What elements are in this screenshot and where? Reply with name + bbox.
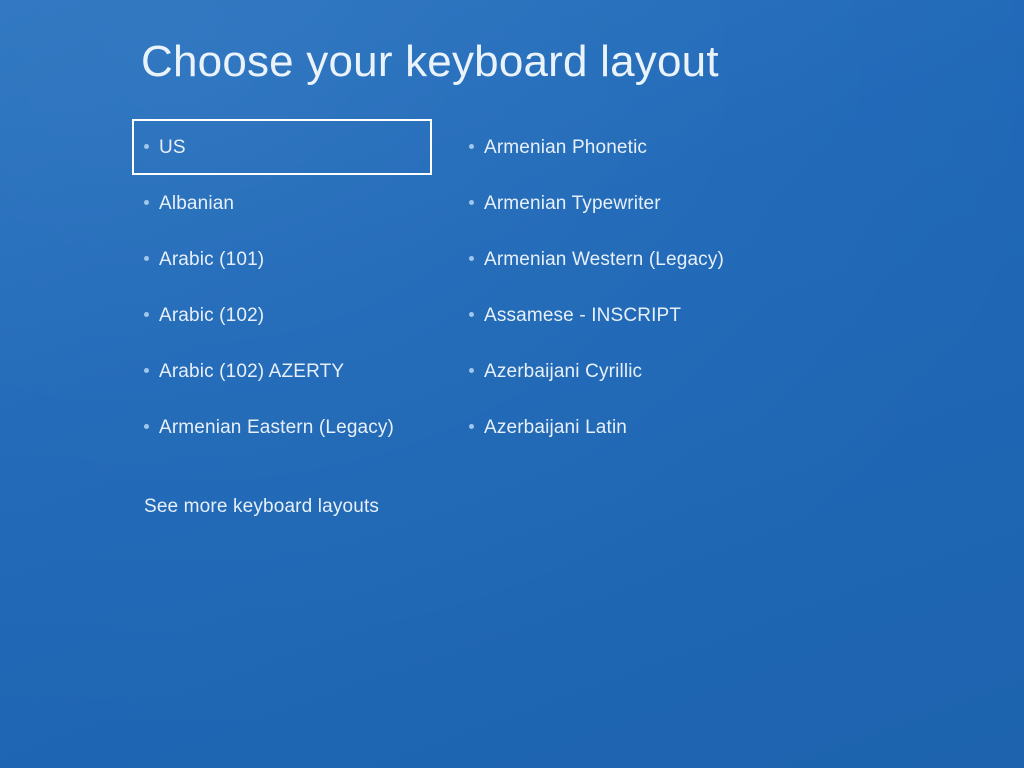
bullet-icon <box>469 200 474 205</box>
keyboard-layout-label: Armenian Phonetic <box>484 138 647 157</box>
keyboard-layout-item[interactable]: US <box>132 119 432 175</box>
bullet-icon <box>144 200 149 205</box>
keyboard-layout-item[interactable]: Arabic (102) AZERTY <box>132 343 432 399</box>
keyboard-layout-item[interactable]: Armenian Eastern (Legacy) <box>132 399 432 455</box>
keyboard-layout-item[interactable]: Azerbaijani Cyrillic <box>457 343 787 399</box>
page-title: Choose your keyboard layout <box>141 38 719 86</box>
keyboard-layout-label: Azerbaijani Cyrillic <box>484 362 642 381</box>
keyboard-layout-label: Armenian Typewriter <box>484 194 661 213</box>
keyboard-layout-label: Albanian <box>159 194 234 213</box>
bullet-icon <box>469 144 474 149</box>
keyboard-layout-item[interactable]: Arabic (101) <box>132 231 432 287</box>
bullet-icon <box>144 312 149 317</box>
keyboard-layout-column-right: Armenian PhoneticArmenian TypewriterArme… <box>457 119 787 455</box>
recovery-screen: Choose your keyboard layout USAlbanianAr… <box>0 0 1024 768</box>
keyboard-layout-item[interactable]: Assamese - INSCRIPT <box>457 287 787 343</box>
keyboard-layout-label: Arabic (101) <box>159 250 264 269</box>
bullet-icon <box>144 256 149 261</box>
keyboard-layout-item[interactable]: Albanian <box>132 175 432 231</box>
keyboard-layout-label: Armenian Western (Legacy) <box>484 250 724 269</box>
keyboard-layout-item[interactable]: Armenian Western (Legacy) <box>457 231 787 287</box>
keyboard-layout-label: Azerbaijani Latin <box>484 418 627 437</box>
keyboard-layout-label: Arabic (102) AZERTY <box>159 362 344 381</box>
keyboard-layout-label: Arabic (102) <box>159 306 264 325</box>
keyboard-layout-column-left: USAlbanianArabic (101)Arabic (102)Arabic… <box>132 119 432 455</box>
bullet-icon <box>469 368 474 373</box>
keyboard-layout-label: Assamese - INSCRIPT <box>484 306 681 325</box>
keyboard-layout-label: Armenian Eastern (Legacy) <box>159 418 394 437</box>
bullet-icon <box>144 424 149 429</box>
keyboard-layout-item[interactable]: Armenian Phonetic <box>457 119 787 175</box>
see-more-keyboard-layouts-link[interactable]: See more keyboard layouts <box>142 492 381 522</box>
bullet-icon <box>144 368 149 373</box>
keyboard-layout-item[interactable]: Azerbaijani Latin <box>457 399 787 455</box>
bullet-icon <box>469 312 474 317</box>
keyboard-layout-item[interactable]: Armenian Typewriter <box>457 175 787 231</box>
bullet-icon <box>469 424 474 429</box>
keyboard-layout-item[interactable]: Arabic (102) <box>132 287 432 343</box>
keyboard-layout-label: US <box>159 138 186 157</box>
bullet-icon <box>144 144 149 149</box>
bullet-icon <box>469 256 474 261</box>
